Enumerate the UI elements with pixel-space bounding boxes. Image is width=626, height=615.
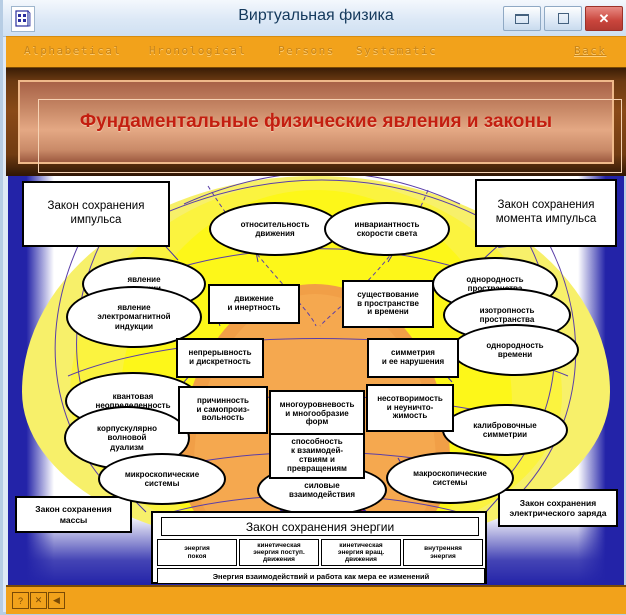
menu-bar: Alphabetical Hronological Persons System… [6,36,626,69]
cell-line: энергия вращ. [338,549,384,556]
node-symmetry-and-violations[interactable]: симметрия и ее нарушения [367,338,459,378]
close-button[interactable]: ✕ [30,592,47,609]
cell-line: внутренняя [424,545,462,552]
law-conservation-angular-momentum[interactable]: Закон сохранения момента импульса [475,179,617,247]
node-line: индукции [115,322,153,331]
node-line: однородность [466,275,523,284]
maximize-button[interactable] [544,6,582,31]
node-invariance-speed-of-light[interactable]: инвариантность скорости света [324,202,450,256]
cell-line: энергия [184,545,210,552]
menu-item-systematic[interactable]: Systematic [356,44,437,57]
node-line: микроскопические [125,470,199,479]
node-line: жимость [393,412,427,421]
node-line: квантовая [113,392,154,401]
node-continuity-discreteness[interactable]: непрерывность и дискретность [176,338,264,378]
energy-cell-rest[interactable]: энергия покоя [157,539,237,566]
node-line: инвариантность [355,220,420,229]
window-controls: ✕ [503,6,623,31]
node-line: относительность [241,220,310,229]
node-homogeneity-of-time[interactable]: однородность времени [451,324,579,376]
node-line: вольность [202,414,244,423]
node-causality-spontaneity[interactable]: причинность и самопроиз- вольность [178,386,268,434]
title-bar: Виртуальная физика ✕ [3,0,626,37]
node-relativity-of-motion[interactable]: относительность движения [209,202,341,256]
node-capacity-interaction-transformation[interactable]: способность к взаимодей- ствиям и превра… [269,433,365,479]
energy-cell-internal[interactable]: внутренняя энергия [403,539,483,566]
cell-line: движения [345,556,377,563]
page-title: Фундаментальные физические явления и зак… [3,68,626,176]
node-line: времени [498,350,532,359]
node-line: корпускулярно [97,424,157,433]
law-conservation-mass[interactable]: Закон сохранения массы [15,496,132,533]
help-button[interactable]: ? [12,592,29,609]
node-line: и инертность [228,304,281,313]
menu-item-back[interactable]: Back [574,44,607,57]
law-conservation-electric-charge[interactable]: Закон сохранения электрического заряда [498,489,618,527]
node-motion-and-inertness[interactable]: движение и инертность [208,284,300,324]
menu-item-hronological[interactable]: Hronological [149,44,246,57]
menu-item-persons[interactable]: Persons [278,44,335,57]
node-line: и ее нарушения [382,358,444,367]
node-microscopic-systems[interactable]: микроскопические системы [98,453,226,505]
node-line: изотропность [480,306,535,315]
node-line: системы [145,479,180,488]
close-button[interactable]: ✕ [585,6,623,31]
node-line: калибровочные [473,421,536,430]
node-line: электромагнитной [97,312,170,321]
node-line: волновой [108,433,147,442]
energy-cell-kinetic-translational[interactable]: кинетическая энергия поступ. движения [239,539,319,566]
law-conservation-momentum[interactable]: Закон сохранения импульса [22,181,170,247]
energy-footer-note: Энергия взаимодействий и работа как мера… [157,568,485,584]
cell-line: энергия [430,553,456,560]
node-macroscopic-systems[interactable]: макроскопические системы [386,452,514,504]
node-line: и дискретность [189,358,251,367]
cell-line: кинетическая [339,542,382,549]
cell-line: движения [263,556,295,563]
node-line: силовые [304,481,339,490]
cell-line: кинетическая [257,542,300,549]
energy-cells-row: энергия покоя кинетическая энергия посту… [157,539,483,566]
node-line: явление [117,303,150,312]
cell-line: энергия поступ. [253,549,305,556]
node-gauge-symmetries[interactable]: калибровочные симметрии [442,404,568,456]
node-line: макроскопические [413,469,487,478]
node-line: движения [255,229,294,238]
node-line: форм [306,418,328,427]
energy-conservation-title[interactable]: Закон сохранения энергии [161,517,479,536]
node-multilevel-diversity[interactable]: многоуровневость и многообразие форм [269,390,365,438]
menu-item-alphabetical[interactable]: Alphabetical [24,44,121,57]
node-line: пространства [480,315,535,324]
node-existence-in-space-time[interactable]: существование в пространстве и времени [342,280,434,328]
node-line: превращениям [287,465,347,474]
node-line: симметрии [483,430,527,439]
status-bar: ? ✕ ◀ [6,585,626,614]
sound-button[interactable]: ◀ [48,592,65,609]
node-line: явление [127,275,160,284]
node-line: взаимодействия [289,490,355,499]
energy-cell-kinetic-rotational[interactable]: кинетическая энергия вращ. движения [321,539,401,566]
minimize-button[interactable] [503,6,541,31]
node-line: однородность [486,341,543,350]
cell-line: покоя [188,553,207,560]
node-line: дуализм [110,443,144,452]
node-indestructibility[interactable]: несотворимость и неуничто- жимость [366,384,454,432]
node-line: и времени [367,308,408,317]
energy-conservation-panel: Закон сохранения энергии энергия покоя к… [151,511,487,584]
node-line: системы [433,478,468,487]
node-line: скорости света [357,229,417,238]
application-window: Виртуальная физика ✕ Alphabetical Hronol… [0,0,626,615]
